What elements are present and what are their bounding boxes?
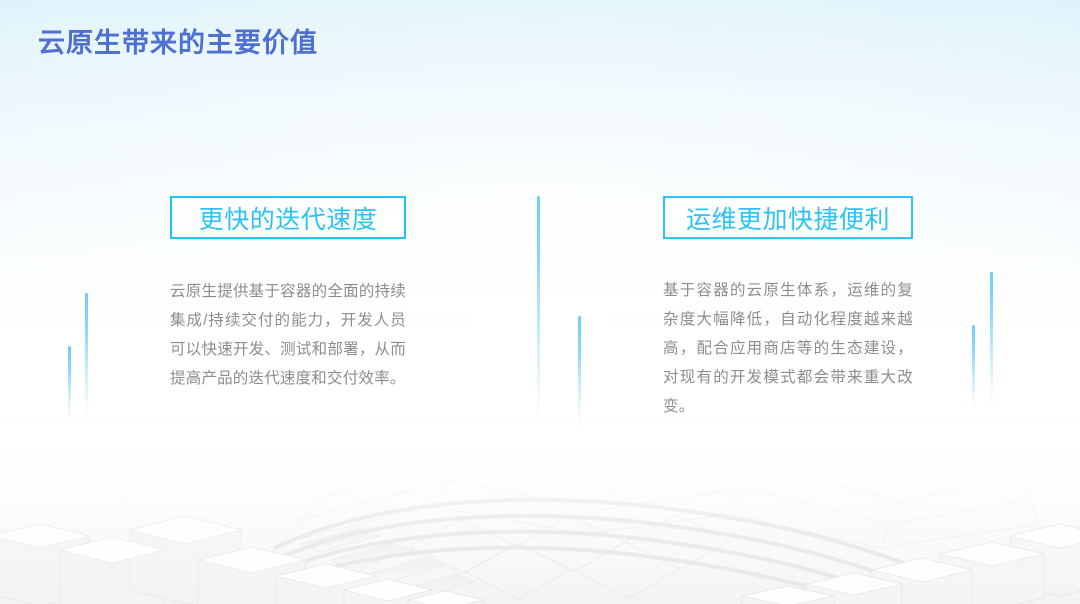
accent-line-left [85, 293, 88, 424]
value-heading-label-right: 运维更加快捷便利 [686, 200, 890, 236]
value-column-right: 运维更加快捷便利 基于容器的云原生体系，运维的复杂度大幅降低，自动化程度越来越高… [663, 196, 913, 421]
value-body-text-right: 基于容器的云原生体系，运维的复杂度大幅降低，自动化程度越来越高，配合应用商店等的… [663, 276, 913, 421]
background-terrain-graphic [0, 424, 1080, 604]
accent-line-right [990, 272, 993, 412]
accent-line-center [537, 196, 540, 431]
accent-line-far-left [68, 346, 71, 424]
value-body-text-left: 云原生提供基于容器的全面的持续集成/持续交付的能力，开发人员可以快速开发、测试和… [170, 277, 406, 393]
page-title: 云原生带来的主要价值 [38, 21, 318, 60]
value-heading-label-left: 更快的迭代速度 [199, 200, 378, 236]
background-wash [0, 0, 1080, 604]
accent-line-far-right [972, 325, 975, 413]
value-heading-box-right: 运维更加快捷便利 [663, 196, 913, 239]
accent-line-center-two [578, 316, 581, 434]
value-column-left: 更快的迭代速度 云原生提供基于容器的全面的持续集成/持续交付的能力，开发人员可以… [170, 196, 406, 393]
slide-canvas: 云原生带来的主要价值 更快的迭代速度 云原生提供基于容器的全面的持续集成/持续交… [0, 0, 1080, 604]
value-heading-box-left: 更快的迭代速度 [170, 196, 406, 239]
